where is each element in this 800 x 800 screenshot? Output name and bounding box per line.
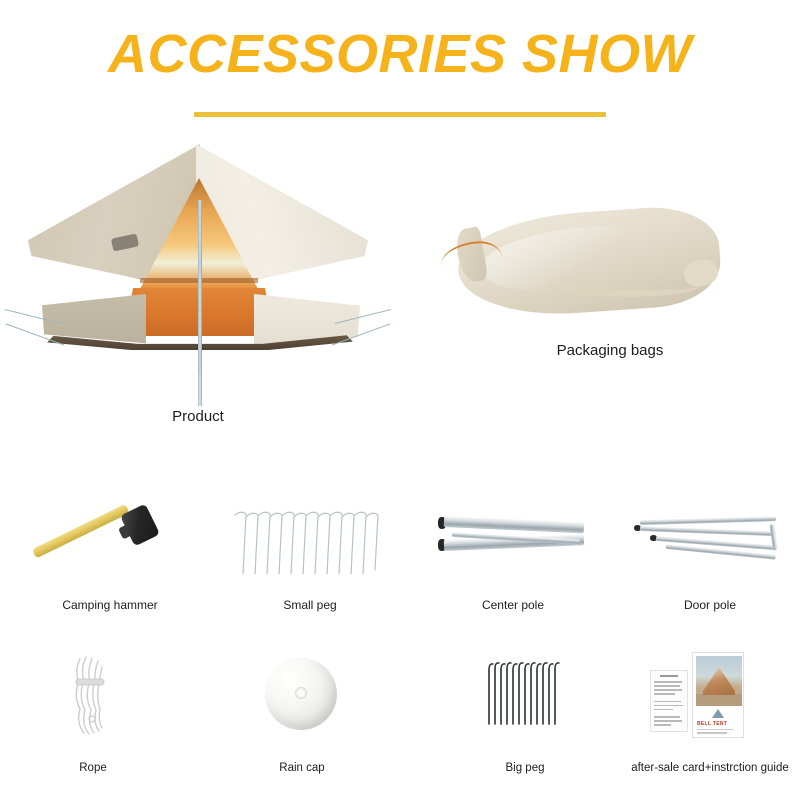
card-heading-line [660,675,678,677]
thin-rod-pole-icon [632,512,782,570]
rope-label: Rope [48,762,138,774]
booklet-subtitle-lines [697,729,737,736]
instruction-guide-booklet: BELL TENT [692,652,744,738]
booklet-photo-tent [703,667,735,695]
card-text-line [654,705,683,707]
accessories-show-page: ACCESSORIES SHOW Product Packaging bags [0,0,800,800]
steel-tube-pole-icon [438,512,588,570]
rubber-mallet-icon [34,503,184,573]
pole-tube-upper [444,516,584,533]
door-rod [640,526,776,536]
after-sale-docs-label: after-sale card+instrction guide [620,762,800,774]
card-text-line [654,701,681,703]
mallet-handle [32,504,130,559]
storage-bag-icon [440,212,720,322]
page-title-block: ACCESSORIES SHOW [0,26,800,83]
booklet-brand-logo-icon [712,709,724,718]
booklet-title: BELL TENT [697,721,727,727]
card-text-line [654,709,673,711]
title-underline-bar [194,112,606,117]
booklet-text-line [697,732,727,733]
small-peg-label: Small peg [240,598,380,612]
booklet-text-line [697,729,733,730]
big-peg-group [485,660,563,732]
steel-peg-set-icon [485,660,563,732]
card-text-line [654,689,682,691]
documents-icon: BELL TENT [650,650,760,745]
card-text-line [654,693,675,695]
product-label: Product [118,408,278,425]
tent-center-pole [198,200,202,380]
rope-bundle-group [68,653,114,738]
card-text-line [654,685,680,687]
card-text-line [654,724,671,726]
rain-cap-label: Rain cap [257,762,347,774]
card-text-line [654,720,682,722]
booklet-cover-photo [696,656,742,706]
card-text-line [654,716,680,718]
page-title: ACCESSORIES SHOW [0,26,800,83]
booklet-photo-ground [696,694,742,706]
rope-tie-band [76,679,104,685]
camping-hammer-label: Camping hammer [30,598,190,612]
small-peg-group [232,508,382,580]
dome-rain-cap-icon [265,658,337,730]
packaging-bags-label: Packaging bags [500,342,720,359]
big-peg-label: Big peg [480,762,570,774]
after-sale-card [650,670,688,732]
tent-pole-foot [198,374,202,406]
door-pole-label: Door pole [650,598,770,612]
card-text-line [654,681,682,683]
rain-cap-center-hole [295,687,307,699]
door-rod [640,516,776,525]
center-pole-label: Center pole [443,598,583,612]
guy-line-bundle-icon [68,653,114,738]
wire-peg-set-icon [232,508,382,580]
bell-tent-icon [28,138,368,388]
